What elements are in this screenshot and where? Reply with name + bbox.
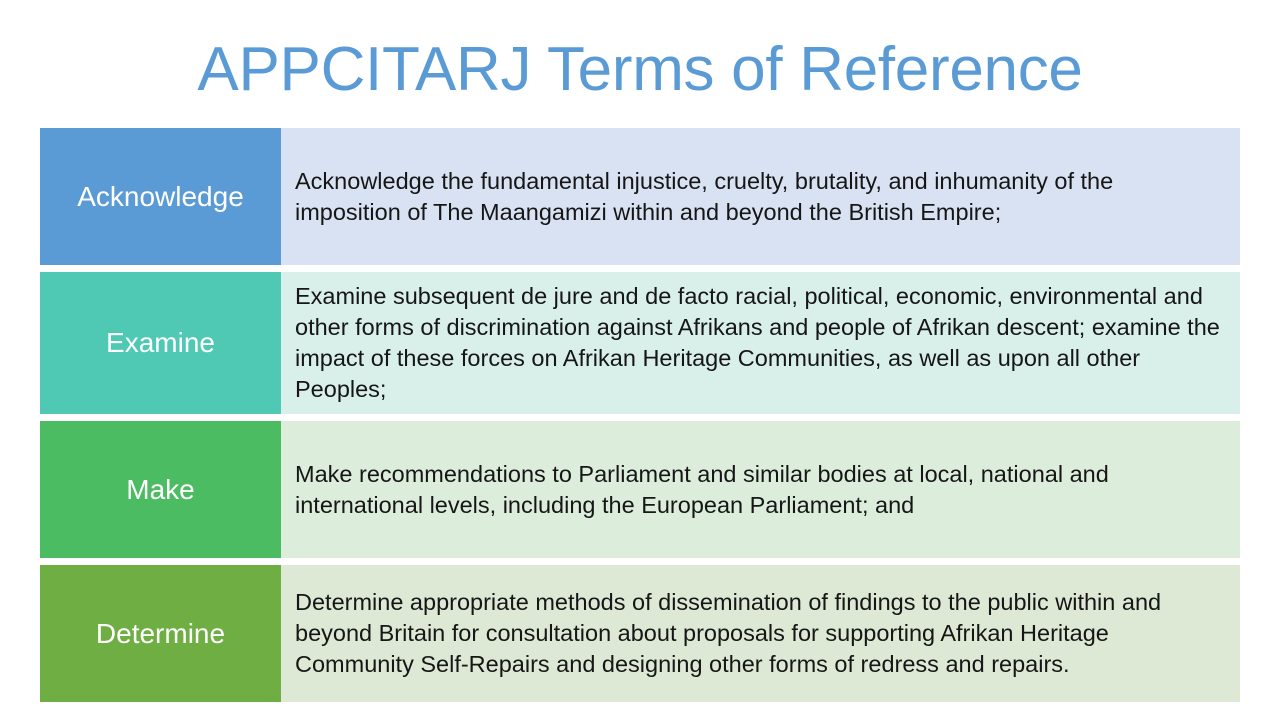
page-title: APPCITARJ Terms of Reference — [0, 32, 1280, 108]
terms-of-reference-table: Acknowledge Acknowledge the fundamental … — [40, 128, 1240, 702]
row-body-text: Determine appropriate methods of dissemi… — [295, 587, 1220, 680]
table-row: Determine Determine appropriate methods … — [40, 565, 1240, 702]
row-label-examine: Examine — [40, 272, 281, 414]
row-label-acknowledge: Acknowledge — [40, 128, 281, 265]
row-label-determine: Determine — [40, 565, 281, 702]
table-row: Examine Examine subsequent de jure and d… — [40, 272, 1240, 414]
table-row: Acknowledge Acknowledge the fundamental … — [40, 128, 1240, 265]
row-label-text: Examine — [106, 326, 215, 360]
row-body-examine: Examine subsequent de jure and de facto … — [281, 272, 1240, 414]
row-body-text: Examine subsequent de jure and de facto … — [295, 281, 1220, 405]
row-label-text: Determine — [96, 617, 225, 651]
row-body-determine: Determine appropriate methods of dissemi… — [281, 565, 1240, 702]
row-label-make: Make — [40, 421, 281, 558]
row-label-text: Make — [126, 473, 194, 507]
row-body-text: Make recommendations to Parliament and s… — [295, 459, 1220, 521]
row-body-acknowledge: Acknowledge the fundamental injustice, c… — [281, 128, 1240, 265]
row-label-text: Acknowledge — [77, 180, 244, 214]
row-body-text: Acknowledge the fundamental injustice, c… — [295, 166, 1220, 228]
row-body-make: Make recommendations to Parliament and s… — [281, 421, 1240, 558]
table-row: Make Make recommendations to Parliament … — [40, 421, 1240, 558]
slide-canvas: APPCITARJ Terms of Reference Acknowledge… — [0, 0, 1280, 720]
